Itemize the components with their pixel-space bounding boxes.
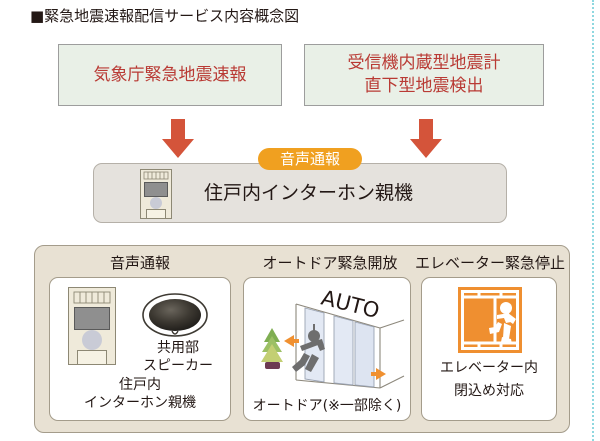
ceiling-speaker-icon (142, 292, 208, 340)
output-card-elevator: エレベーター内 閉込め対応 (421, 277, 557, 421)
eew-service-diagram: ■緊急地震速報配信サービス内容概念図 気象庁緊急地震速報 受信機内蔵型地震計 直… (0, 0, 600, 441)
column-heading-voice: 音声通報 (45, 253, 235, 273)
down-arrow-icon-left (161, 119, 195, 159)
svg-text:AUTO: AUTO (319, 286, 382, 324)
source-box-jma: 気象庁緊急地震速報 (58, 44, 282, 106)
elevator-caption-line-2: 閉込め対応 (422, 383, 556, 400)
intercom-unit-icon (140, 169, 172, 219)
intercom-master-unit-bar: 住戸内インターホン親機 (93, 163, 507, 223)
auto-door-caption: オートドア(※一部除く) (244, 398, 410, 415)
elevator-escape-icon (458, 287, 522, 353)
output-card-voice: 共用部 スピーカー 住戸内 インターホン親機 (49, 277, 231, 421)
intercom-unit-icon (68, 287, 116, 365)
source-box-seismometer-line-2: 直下型地震検出 (348, 75, 501, 98)
auto-door-icon: AUTO (250, 284, 406, 396)
source-box-seismometer-line-1: 受信機内蔵型地震計 (348, 52, 501, 75)
diagram-title: ■緊急地震速報配信サービス内容概念図 (30, 6, 299, 26)
intercom-master-unit-label: 住戸内インターホン親機 (204, 164, 413, 222)
column-heading-auto-door: オートドア緊急開放 (250, 253, 410, 273)
intercom-label-line-2: インターホン親機 (50, 395, 230, 412)
speaker-label-line-1: 共用部 (126, 340, 230, 357)
source-box-seismometer: 受信機内蔵型地震計 直下型地震検出 (304, 44, 544, 106)
down-arrow-icon-right (409, 119, 443, 159)
speaker-label-line-2: スピーカー (126, 358, 230, 375)
output-card-auto-door: AUTO (243, 277, 411, 421)
page-edge-dotted-rule (592, 0, 594, 441)
outputs-panel: 音声通報 オートドア緊急開放 エレベーター緊急停止 (34, 245, 570, 433)
source-box-jma-line-1: 気象庁緊急地震速報 (94, 64, 247, 87)
column-heading-elevator: エレベーター緊急停止 (415, 253, 565, 273)
voice-alert-pill: 音声通報 (258, 148, 362, 170)
intercom-label-line-1: 住戸内 (50, 377, 230, 394)
elevator-caption-line-1: エレベーター内 (422, 360, 556, 377)
